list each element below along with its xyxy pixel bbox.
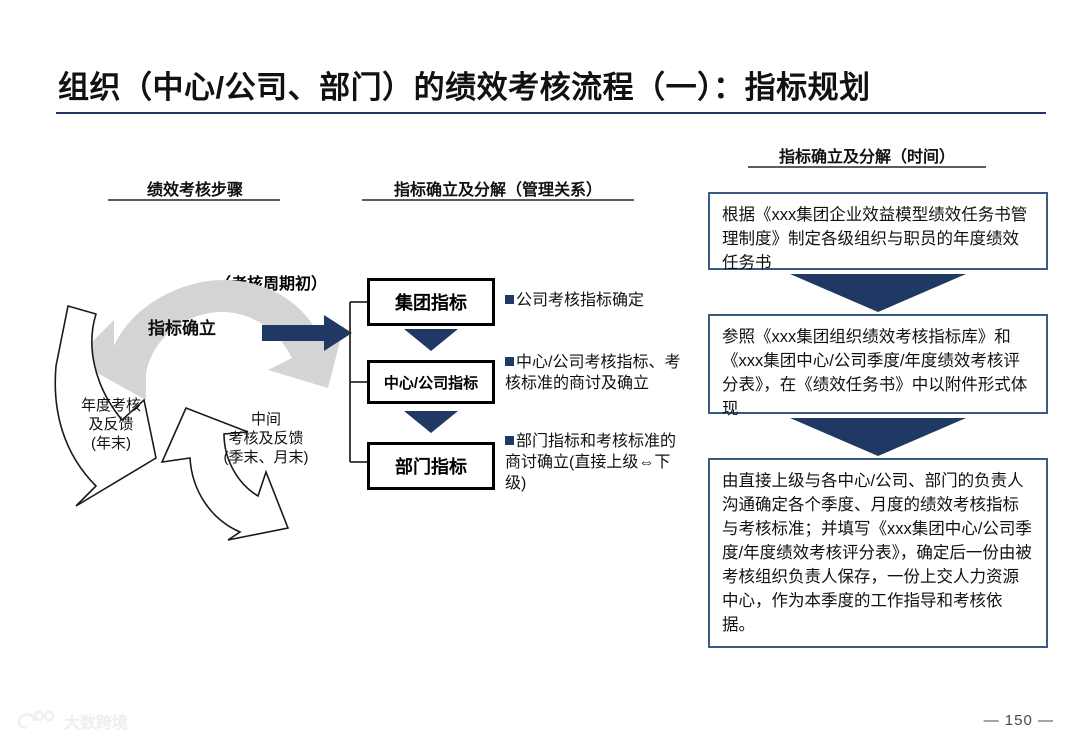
page-title: 组织（中心/公司、部门）的绩效考核流程（一）：指标规划 bbox=[58, 62, 1048, 107]
chevron-down-icon-step1-to-step2 bbox=[790, 274, 966, 312]
column-divider-timeline bbox=[748, 166, 986, 168]
page-number: — 150 — bbox=[984, 712, 1054, 729]
breakdown-bullet-1-text: 公司考核指标确定 bbox=[516, 292, 644, 309]
interim-review-line-1: 中间 bbox=[200, 410, 332, 429]
interim-review-line-2: 考核及反馈 bbox=[200, 429, 332, 448]
cycle-annual-review-label: 年度考核 及反馈 (年末) bbox=[56, 396, 166, 454]
watermark-text: 大数跨境 bbox=[64, 713, 128, 732]
indicator-box-group[interactable]: 集团指标 bbox=[367, 278, 495, 326]
chevron-down-icon-step2-to-step3 bbox=[790, 418, 966, 456]
chevron-down-icon-center-to-dept bbox=[404, 411, 458, 433]
annual-review-line-3: (年末) bbox=[56, 434, 166, 453]
indicator-box-department[interactable]: 部门指标 bbox=[367, 442, 495, 490]
watermark-logo: 大数跨境 bbox=[12, 706, 172, 740]
column-heading-breakdown: 指标确立及分解（管理关系） bbox=[362, 176, 634, 200]
breakdown-bullet-2-text: 中心/公司考核指标、考核标准的商讨及确立 bbox=[505, 354, 680, 392]
annual-review-line-1: 年度考核 bbox=[56, 396, 166, 415]
interim-review-line-3: (季末、月末) bbox=[200, 448, 332, 467]
annual-review-line-2: 及反馈 bbox=[56, 415, 166, 434]
square-bullet-icon bbox=[505, 436, 514, 445]
column-heading-timeline: 指标确立及分解（时间） bbox=[748, 143, 986, 167]
timeline-step-3[interactable]: 由直接上级与各中心/公司、部门的负责人沟通确定各个季度、月度的绩效考核指标与考核… bbox=[708, 458, 1048, 648]
cycle-stage-active-label: 指标确立 bbox=[148, 318, 216, 340]
breakdown-bullet-2: 中心/公司考核指标、考核标准的商讨及确立 bbox=[505, 353, 687, 395]
square-bullet-icon bbox=[505, 295, 514, 304]
breakdown-bullet-3-text: 部门指标和考核标准的商讨确立(直接上级⇔下级) bbox=[505, 433, 676, 492]
breakdown-bullet-1: 公司考核指标确定 bbox=[505, 291, 687, 312]
title-divider bbox=[56, 112, 1046, 114]
column-heading-steps: 绩效考核步骤 bbox=[110, 176, 280, 200]
chevron-down-icon-group-to-center bbox=[404, 329, 458, 351]
timeline-step-2[interactable]: 参照《xxx集团组织绩效考核指标库》和《xxx集团中心/公司季度/年度绩效考核评… bbox=[708, 314, 1048, 414]
indicator-box-center-company[interactable]: 中心/公司指标 bbox=[367, 360, 495, 404]
breakdown-bullet-3: 部门指标和考核标准的商讨确立(直接上级⇔下级) bbox=[505, 432, 687, 494]
square-bullet-icon bbox=[505, 357, 514, 366]
cycle-to-breakdown-arrow-icon bbox=[262, 313, 354, 353]
cycle-interim-review-label: 中间 考核及反馈 (季末、月末) bbox=[200, 410, 332, 468]
column-divider-steps bbox=[108, 199, 280, 201]
timeline-step-1[interactable]: 根据《xxx集团企业效益模型绩效任务书管理制度》制定各级组织与职员的年度绩效任务… bbox=[708, 192, 1048, 270]
performance-cycle-diagram: 指标确立 年度考核 及反馈 (年末) 中间 考核及反馈 (季末、月末) bbox=[52, 262, 352, 542]
column-divider-breakdown bbox=[362, 199, 634, 201]
